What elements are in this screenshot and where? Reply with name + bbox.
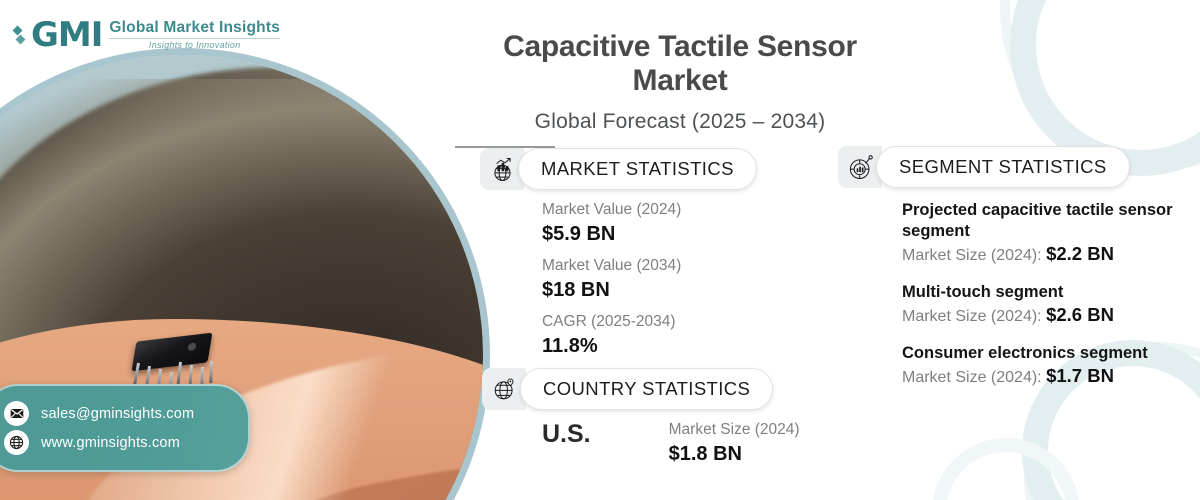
brand-logo[interactable]: GMI Global Market Insights Insights to I… [14, 18, 280, 52]
segment-label: Market Size (2024): [902, 369, 1046, 386]
stat-value: $1.8 BN [669, 441, 800, 467]
segment-title: Consumer electronics segment [902, 343, 1192, 364]
segment-value: $1.7 BN [1046, 365, 1114, 386]
stat-value: 11.8% [542, 333, 681, 359]
stat-label: Market Value (2034) [542, 256, 681, 277]
brand-rule [109, 38, 280, 39]
country-statistics-header: COUNTRY STATISTICS [482, 368, 773, 410]
segment-item: Multi-touch segment Market Size (2024): … [902, 282, 1192, 326]
envelope-icon [4, 401, 29, 426]
ic-chip-icon [129, 337, 215, 383]
segment-value: $2.2 BN [1046, 243, 1114, 264]
stat-value: $18 BN [542, 277, 681, 303]
page-subtitle: Global Forecast (2025 – 2034) [455, 110, 905, 134]
chip-notch [188, 342, 197, 352]
country-metric: Market Size (2024) $1.8 BN [669, 420, 800, 467]
segment-title: Projected capacitive tactile sensor segm… [902, 200, 1192, 242]
segment-value: $2.6 BN [1046, 304, 1114, 325]
segment-label: Market Size (2024): [902, 247, 1046, 264]
segment-item: Consumer electronics segment Market Size… [902, 343, 1192, 387]
brand-tagline: Insights to Innovation [109, 41, 280, 50]
contact-website-row[interactable]: www.gminsights.com [4, 430, 238, 455]
stat-row: Market Value (2024) $5.9 BN [542, 200, 681, 247]
market-statistics-header: MARKET STATISTICS [480, 148, 757, 190]
segment-statistics-header: SEGMENT STATISTICS [838, 146, 1130, 188]
chip-body [132, 333, 213, 372]
contact-email-row[interactable]: sales@gminsights.com [4, 401, 238, 426]
brand-initials: GMI [31, 18, 102, 52]
segment-metric: Market Size (2024): $2.2 BN [902, 243, 1192, 265]
segment-metric: Market Size (2024): $1.7 BN [902, 365, 1192, 387]
segment-metric: Market Size (2024): $2.6 BN [902, 304, 1192, 326]
header: Capacitive Tactile Sensor Market Global … [455, 30, 1155, 148]
decorative-ring-bottom-center [932, 438, 1080, 500]
segment-statistics-pill: SEGMENT STATISTICS [876, 146, 1130, 188]
segment-statistics-body: Projected capacitive tactile sensor segm… [902, 200, 1192, 404]
segment-label: Market Size (2024): [902, 308, 1046, 325]
globe-icon [4, 430, 29, 455]
stat-label: CAGR (2025-2034) [542, 312, 681, 333]
segment-title: Multi-touch segment [902, 282, 1192, 303]
market-statistics-body: Market Value (2024) $5.9 BN Market Value… [542, 200, 681, 368]
market-statistics-heading: MARKET STATISTICS [541, 158, 734, 180]
stat-row: Market Value (2034) $18 BN [542, 256, 681, 303]
country-statistics-heading: COUNTRY STATISTICS [543, 378, 750, 400]
country-name: U.S. [542, 420, 591, 449]
stat-value: $5.9 BN [542, 221, 681, 247]
contact-website: www.gminsights.com [41, 435, 180, 451]
country-statistics-body: U.S. Market Size (2024) $1.8 BN [542, 420, 800, 467]
market-statistics-pill: MARKET STATISTICS [518, 148, 757, 190]
country-statistics-pill: COUNTRY STATISTICS [520, 368, 773, 410]
infographic-canvas: GMI Global Market Insights Insights to I… [0, 0, 1200, 500]
stat-row: CAGR (2025-2034) 11.8% [542, 312, 681, 359]
brand-wordmark: Global Market Insights Insights to Innov… [109, 20, 280, 51]
page-title: Capacitive Tactile Sensor Market [455, 30, 905, 98]
chip-leg [209, 361, 212, 383]
stat-label: Market Value (2024) [542, 200, 681, 221]
contact-email: sales@gminsights.com [41, 406, 194, 422]
contact-card: sales@gminsights.com www.gminsights.com [0, 384, 250, 472]
brand-name: Global Market Insights [109, 20, 280, 36]
segment-item: Projected capacitive tactile sensor segm… [902, 200, 1192, 265]
stat-label: Market Size (2024) [669, 420, 800, 441]
gmi-diamond-logo-icon [14, 27, 24, 43]
segment-statistics-heading: SEGMENT STATISTICS [899, 156, 1107, 178]
